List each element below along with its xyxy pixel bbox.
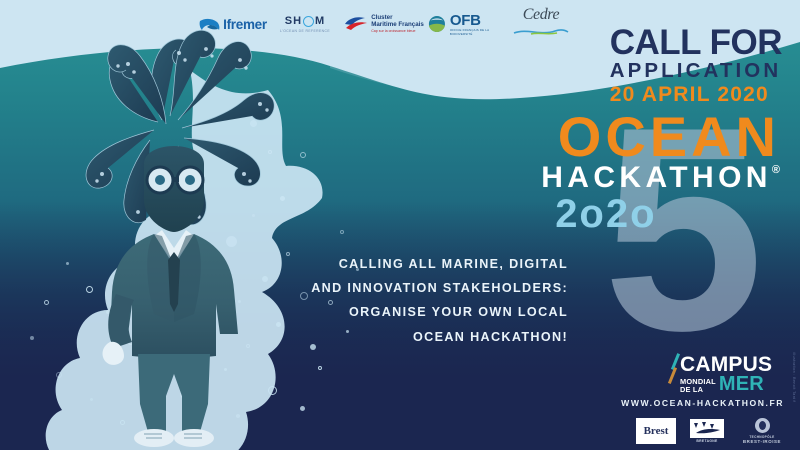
campus-line-campus: CAMPUS [680, 355, 784, 375]
website-url[interactable]: WWW.OCEAN-HACKATHON.FR [621, 398, 784, 408]
bubble [44, 300, 49, 305]
logo-shom-label-a: SH [285, 15, 302, 27]
logo-shom[interactable]: SH M L'OCEAN DE REFERENCE [270, 15, 340, 33]
logo-brest[interactable]: Brest [636, 418, 676, 444]
trousers [138, 354, 210, 432]
registered-trademark-icon: ® [772, 164, 780, 176]
octopus-man-illustration [58, 4, 288, 450]
logo-year: 2o2o [541, 194, 780, 234]
logo-bretagne-label: BRETAGNE [690, 439, 724, 443]
technopole-mark-icon [755, 418, 770, 433]
headline-deadline-date: 20 APRIL 2020 [610, 83, 782, 107]
logo-brest-label: Brest [644, 425, 669, 437]
campus-line-mer: MER [719, 375, 764, 394]
logo-ifremer-label: Ifremer [223, 17, 267, 32]
logo-technopole-line2: BREST-IROISE [743, 439, 781, 444]
wave-swoosh-icon [344, 15, 368, 32]
poster-canvas: Ifremer SH M L'OCEAN DE REFERENCE Cluste… [0, 0, 800, 450]
bubble [300, 152, 306, 158]
campus-line-dela: DE LA [680, 386, 716, 394]
body-copy-block: CALLING ALL MARINE, DIGITAL AND INNOVATI… [268, 252, 568, 349]
logo-word-hackathon: HACKATHON [541, 162, 772, 194]
logo-word-ocean: OCEAN [541, 112, 780, 162]
wave-underline-icon [513, 28, 569, 37]
logo-ofb-label: OFB [450, 13, 506, 28]
illustration-credit: illustration : Benoit Tardif [792, 352, 796, 402]
logo-campus-mondial-de-la-mer[interactable]: CAMPUS MONDIAL DE LA MER [680, 355, 784, 394]
bubble [340, 230, 344, 234]
logo-cmf-line2: Maritime Français [371, 22, 424, 29]
partner-logo-bar: Ifremer SH M L'OCEAN DE REFERENCE Cluste… [0, 0, 800, 48]
logo-bretagne[interactable]: BRETAGNE [690, 419, 724, 443]
body-copy-line-4: OCEAN HACKATHON! [268, 325, 568, 349]
body-copy-line-2: AND INNOVATION STAKEHOLDERS: [268, 276, 568, 300]
body-copy-line-3: ORGANISE YOUR OWN LOCAL [268, 300, 568, 324]
dolphin-icon [199, 17, 221, 32]
bubble [300, 406, 305, 411]
globe-leaf-icon [428, 14, 446, 34]
logo-technopole-brest-iroise[interactable]: TECHNOPÔLE BREST-IROISE [738, 418, 786, 444]
bubble [30, 336, 34, 340]
bubble [318, 366, 322, 370]
logo-ifremer[interactable]: Ifremer [196, 17, 270, 32]
logo-ofb-sublabel: OFFICE FRANÇAIS DE LA BIODIVERSITÉ [450, 28, 506, 36]
headline-application: APPLICATION [610, 60, 782, 83]
logo-cedre-label: Cedre [513, 6, 569, 24]
circle-ring-icon [303, 16, 314, 27]
logo-cluster-maritime-francais[interactable]: Cluster Maritime Français Cap sur la cro… [340, 15, 428, 33]
body-copy-line-1: CALLING ALL MARINE, DIGITAL [268, 252, 568, 276]
logo-shom-sublabel: L'OCEAN DE REFERENCE [280, 29, 330, 33]
bretagne-ermine-icon [690, 419, 724, 438]
logo-cmf-line3: Cap sur la croissance bleue [371, 29, 424, 33]
logo-cedre[interactable]: Cedre [506, 6, 576, 42]
logo-shom-label-b: M [315, 15, 325, 27]
logo-ofb[interactable]: OFB OFFICE FRANÇAIS DE LA BIODIVERSITÉ [428, 13, 506, 36]
footer-logo-bar: Brest BRETAGNE TECHNOPÔLE BREST-IROISE [636, 418, 786, 444]
ocean-hackathon-logo: OCEAN HACKATHON ® 2o2o [541, 112, 780, 234]
